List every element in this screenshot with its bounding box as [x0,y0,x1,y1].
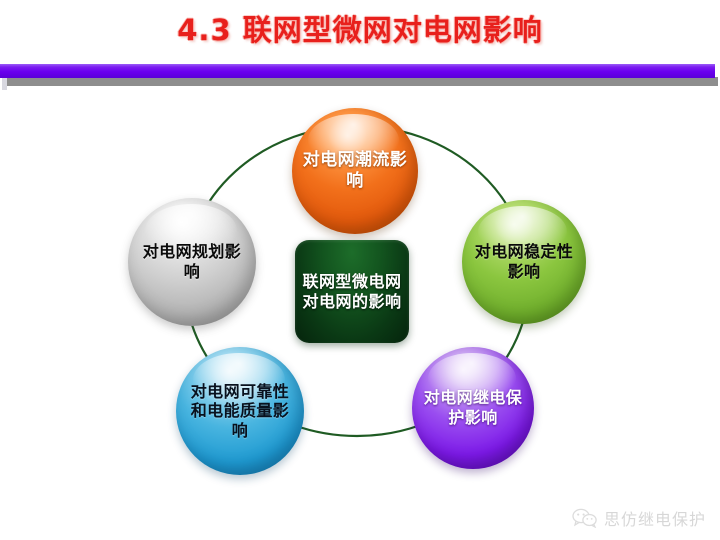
node-label: 对电网可靠性和电能质量影响 [185,382,295,441]
node-label: 对电网规划影响 [137,242,247,281]
title-area: 4.3 联网型微网对电网影响 [0,0,720,62]
node-label: 对电网稳定性影响 [471,242,578,281]
node-power-flow-impact[interactable]: 对电网潮流影响 [292,108,418,234]
cycle-diagram: 对电网潮流影响 对电网稳定性影响 对电网继电保护影响 对电网可靠性和电能质量影响… [0,90,720,510]
watermark: 思仿继电保护 [572,506,706,530]
node-relay-protection-impact[interactable]: 对电网继电保护影响 [412,347,534,469]
node-reliability-power-quality-impact[interactable]: 对电网可靠性和电能质量影响 [176,347,304,475]
wechat-icon [572,508,598,528]
accent-bar [0,64,715,78]
diagram-center-label: 联网型微电网对电网的影响 [301,272,404,312]
diagram-center-node[interactable]: 联网型微电网对电网的影响 [295,240,409,343]
node-stability-impact[interactable]: 对电网稳定性影响 [462,200,586,324]
watermark-text: 思仿继电保护 [604,506,706,530]
node-label: 对电网继电保护影响 [421,388,526,427]
node-grid-planning-impact[interactable]: 对电网规划影响 [128,198,256,326]
accent-bar-shadow [6,77,718,86]
node-label: 对电网潮流影响 [301,150,409,191]
slide-canvas: 4.3 联网型微网对电网影响 对电网潮流影响 对电网稳定性影响 对电网继电保护影… [0,0,720,540]
page-title: 4.3 联网型微网对电网影响 [0,10,720,50]
